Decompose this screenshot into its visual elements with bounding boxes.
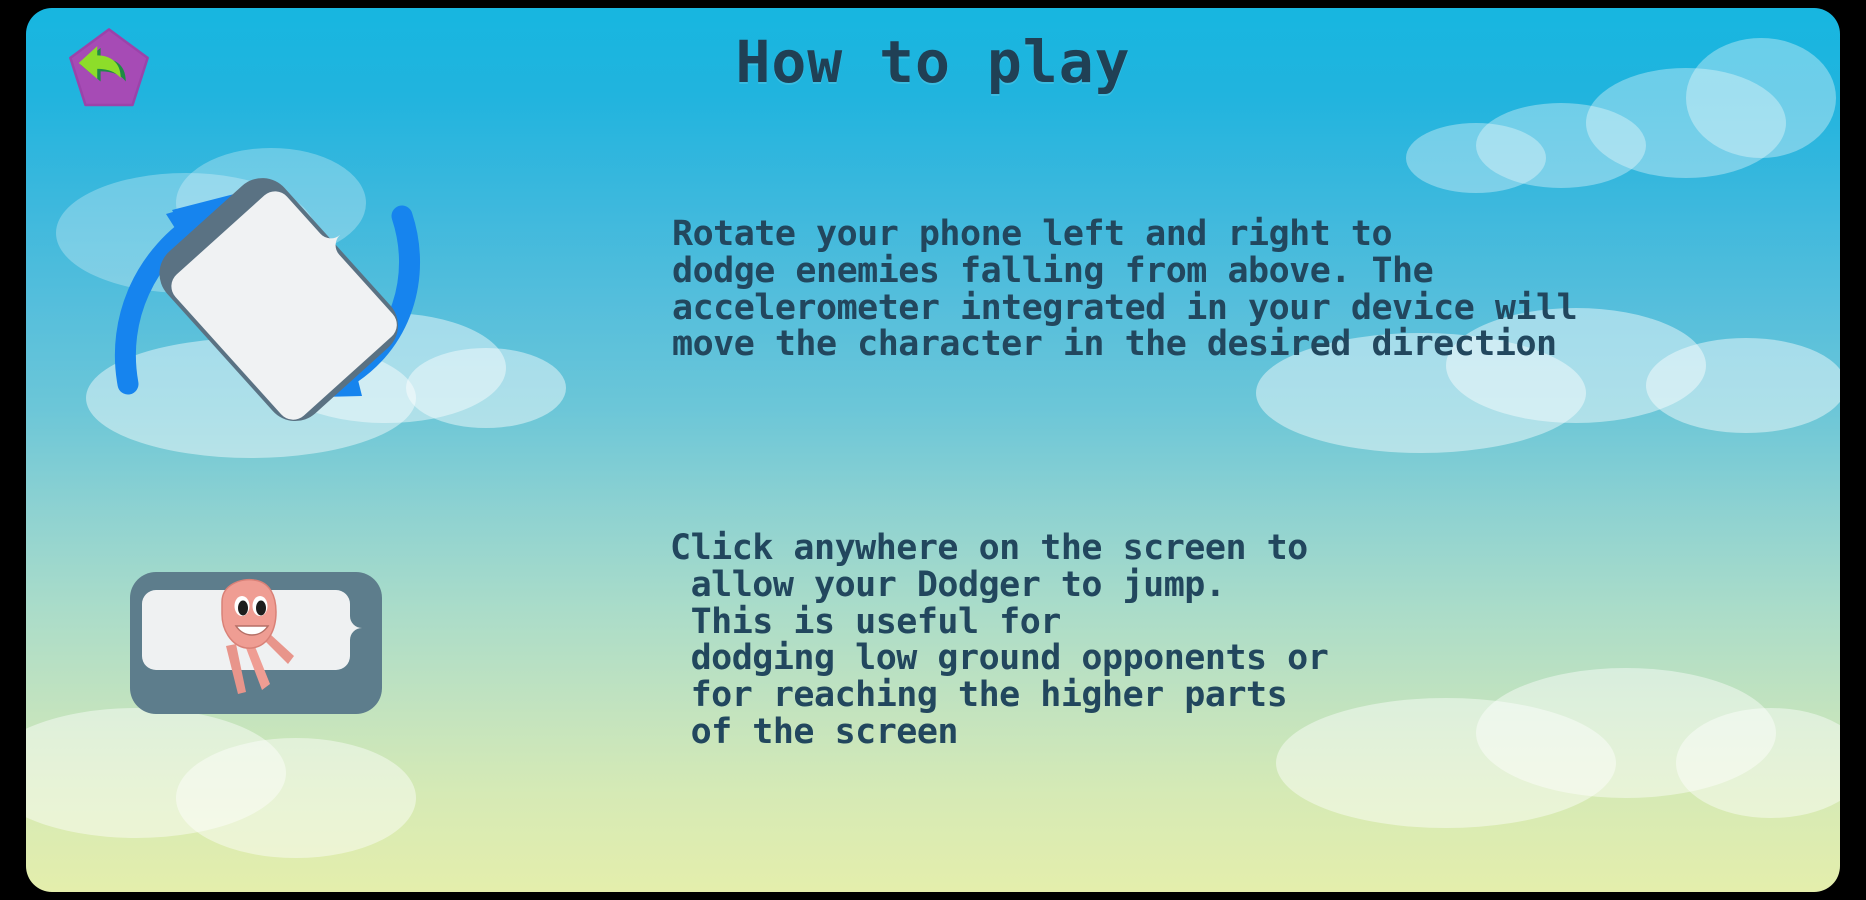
game-canvas: How to play: [26, 8, 1840, 892]
instruction-row-tap: Click anywhere on the screen to allow yo…: [86, 508, 1786, 788]
tap-to-jump-icon: [126, 568, 386, 718]
tap-icon-slot: [86, 508, 686, 788]
page-title: How to play: [26, 28, 1840, 96]
instruction-row-rotate: Rotate your phone left and right to dodg…: [86, 148, 1786, 428]
phone-body: [147, 159, 418, 428]
rotate-phone-icon: [106, 158, 436, 428]
instruction-text-rotate: Rotate your phone left and right to dodg…: [672, 148, 1577, 363]
app-window: How to play: [0, 0, 1866, 900]
instruction-text-tap: Click anywhere on the screen to allow yo…: [670, 508, 1328, 751]
rotate-icon-slot: [86, 148, 686, 428]
